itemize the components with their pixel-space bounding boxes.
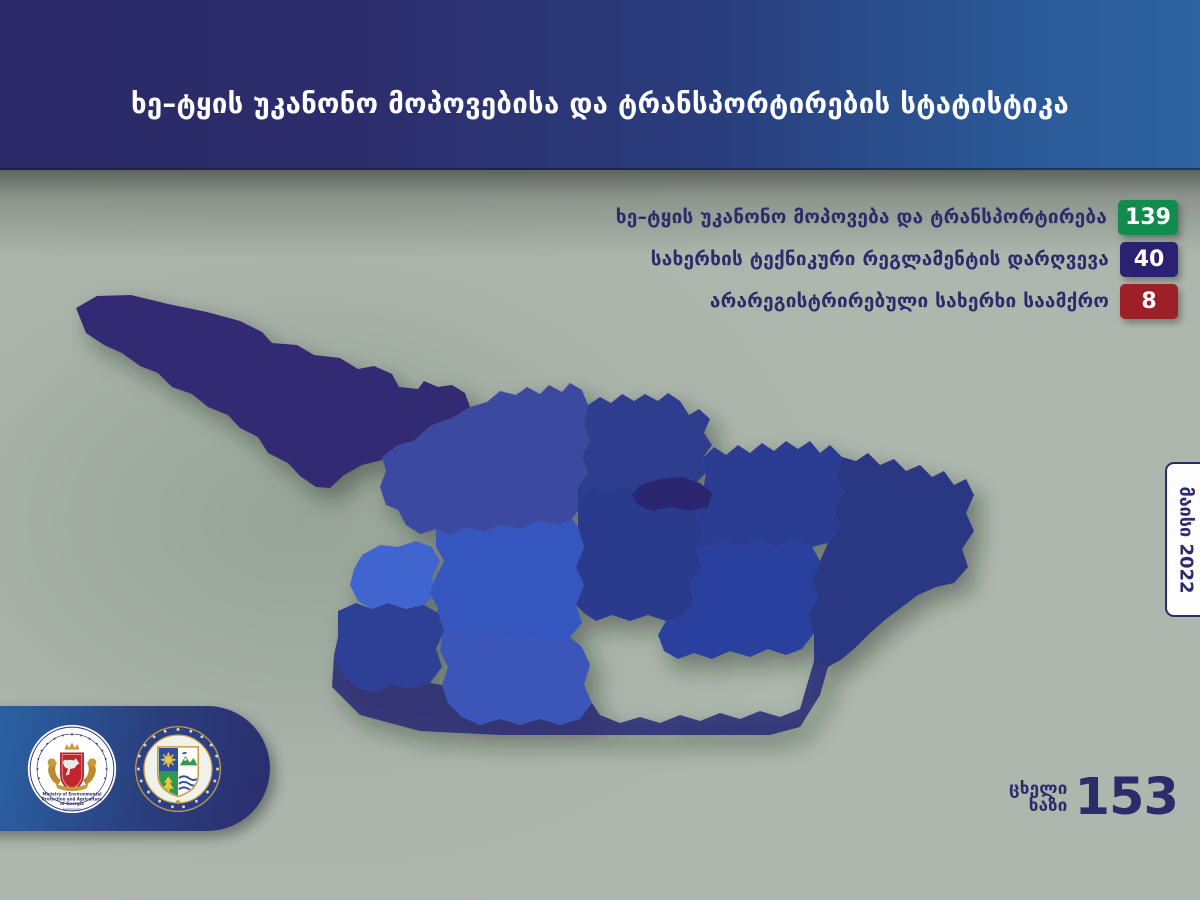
- region-guria: [350, 541, 440, 609]
- region-racha-lechkhumi: [578, 393, 712, 493]
- date-tab: მაისი 2022: [1165, 462, 1200, 617]
- georgia-region-map: 29 სამეგრელო–ზემო სვანეთი 5 რაჭა–ლეჩხუმი…: [0, 175, 1130, 735]
- infographic-canvas: ხე–ტყის უკანონო მოპოვებისა და ტრანსპორტი…: [0, 0, 1200, 900]
- footer-logos-pill: Ministry of Environmental Protection and…: [0, 706, 270, 831]
- environmental-supervision-department-emblem: [132, 723, 224, 815]
- date-tab-label: მაისი 2022: [1177, 486, 1195, 593]
- region-imereti: [430, 519, 584, 641]
- hotline-number: 153: [1075, 776, 1178, 821]
- page-title: ხე–ტყის უკანონო მოპოვებისა და ტრანსპორტი…: [0, 91, 1200, 171]
- svg-text:საქართველო: საქართველო: [63, 806, 82, 810]
- hotline-label-line2: ხაზი: [1029, 798, 1068, 815]
- region-mtskheta-mtianeti: [696, 441, 844, 549]
- header-banner: ხე–ტყის უკანონო მოპოვებისა და ტრანსპორტი…: [0, 0, 1200, 170]
- ministry-of-environmental-protection-and-agriculture-emblem: Ministry of Environmental Protection and…: [26, 723, 118, 815]
- svg-text:of Georgia: of Georgia: [60, 800, 84, 805]
- region-samtskhe-javakheti: [440, 631, 592, 725]
- map-regions-group: [76, 295, 974, 735]
- region-adjara: [334, 603, 444, 693]
- hotline-label: ცხელი ხაზი: [1009, 781, 1068, 816]
- hotline: ცხელი ხაზი 153: [1009, 776, 1178, 821]
- map-svg: [0, 175, 1130, 735]
